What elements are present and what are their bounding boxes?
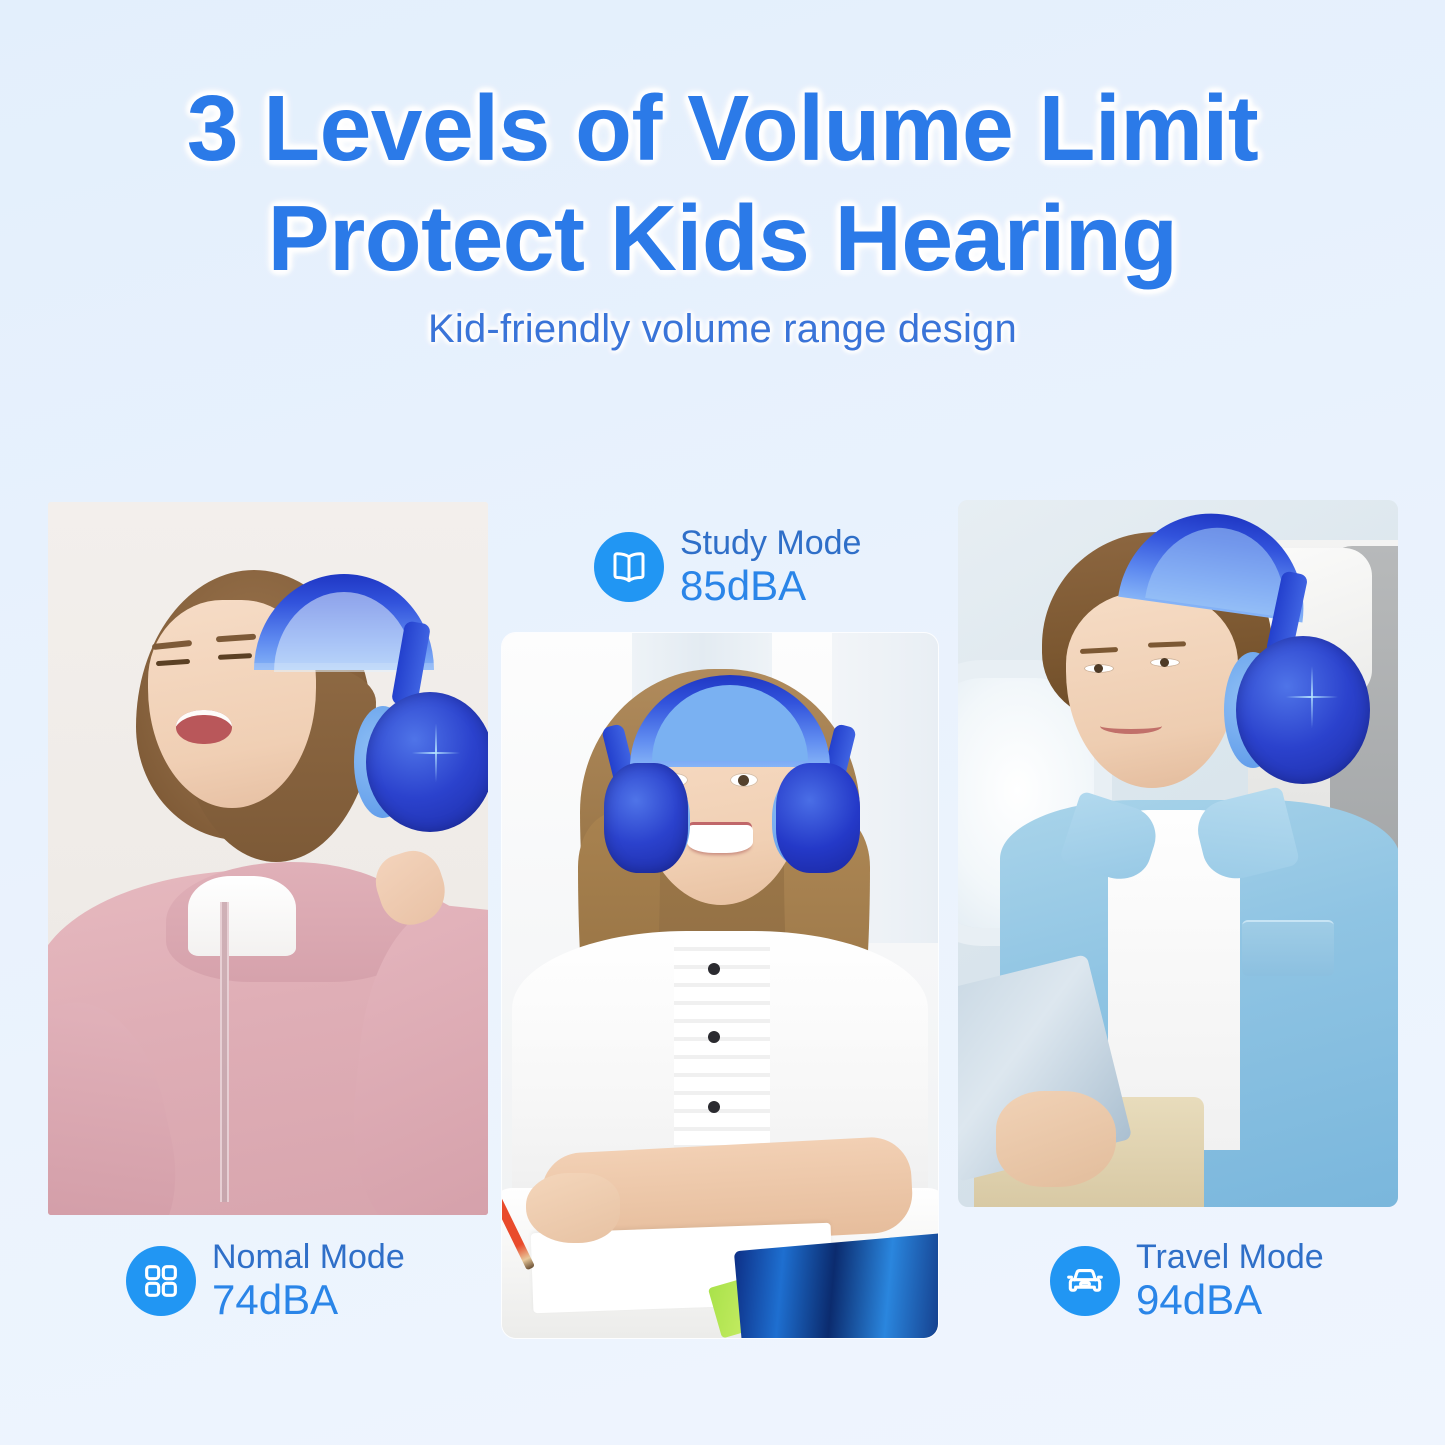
subtitle: Kid-friendly volume range design [0,307,1445,352]
badge-label: Nomal Mode [212,1238,405,1276]
photo-normal-mode [48,502,488,1215]
headphones-right-photo [1110,514,1370,794]
mouth-shape [176,710,232,744]
blouse-ruffle-shape [674,933,770,1163]
badge-text-group: Study Mode 85dBA [680,524,861,610]
tablet-shape [734,1233,938,1338]
car-front-icon [1050,1246,1120,1316]
button-shape [708,1031,720,1043]
shirt-pocket-shape [1242,920,1334,976]
headline-line-2: Protect Kids Hearing [0,182,1445,295]
photo-travel-mode [958,500,1398,1207]
headphones-middle-photo [600,675,860,925]
badge-value: 85dBA [680,562,861,610]
badge-normal-mode: Nomal Mode 74dBA [126,1238,405,1324]
grid-squares-icon [126,1246,196,1316]
badge-label: Study Mode [680,524,861,562]
badge-label: Travel Mode [1136,1238,1324,1276]
button-shape [708,1101,720,1113]
badge-text-group: Travel Mode 94dBA [1136,1238,1324,1324]
headphones-left-photo [244,574,458,854]
badge-travel-mode: Travel Mode 94dBA [1050,1238,1324,1324]
headline-line-1: 3 Levels of Volume Limit [0,72,1445,185]
star-logo-icon [1286,666,1338,728]
badge-study-mode: Study Mode 85dBA [594,524,861,610]
open-book-icon [594,532,664,602]
star-logo-icon [412,724,460,782]
badge-value: 74dBA [212,1276,405,1324]
earcup-right-shape [776,763,860,873]
badge-value: 94dBA [1136,1276,1324,1324]
earcup-left-shape [604,763,688,873]
hand-shape [526,1173,620,1243]
button-shape [708,963,720,975]
photo-study-mode [502,633,938,1338]
hand-shape [996,1091,1116,1187]
white-tee-shape [188,876,296,956]
zipper-shape [220,902,229,1202]
badge-text-group: Nomal Mode 74dBA [212,1238,405,1324]
